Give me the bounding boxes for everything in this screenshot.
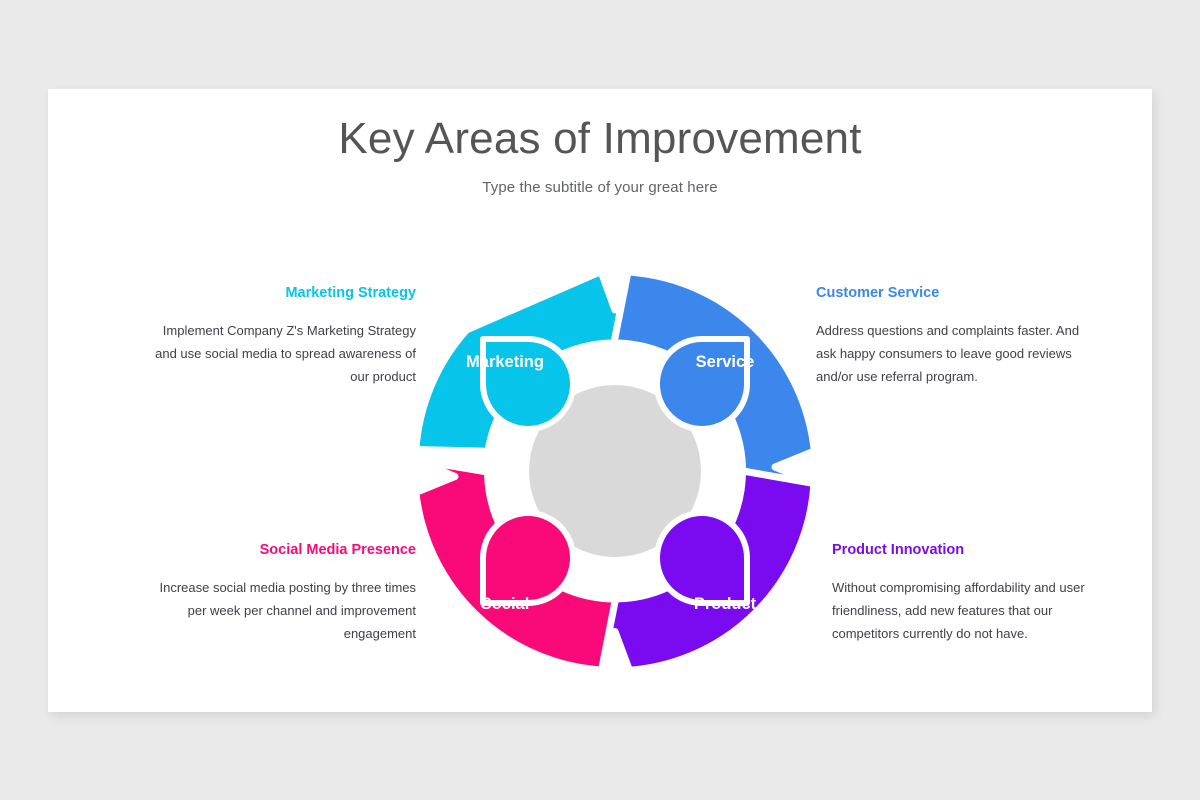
badge-product-shape — [657, 513, 747, 603]
block-heading-marketing: Marketing Strategy — [146, 285, 416, 302]
text-block-social: Social Media Presence Increase social me… — [146, 542, 416, 645]
block-body-social: Increase social media posting by three t… — [146, 576, 416, 645]
badge-label-social: Social — [481, 595, 530, 613]
block-heading-product: Product Innovation — [832, 542, 1102, 559]
block-body-product: Without compromising affordability and u… — [832, 576, 1102, 645]
badge-social-shape — [483, 513, 573, 603]
page-subtitle: Type the subtitle of your great here — [48, 179, 1152, 196]
badge-label-marketing: Marketing — [466, 353, 544, 371]
slide-card: Key Areas of Improvement Type the subtit… — [48, 89, 1152, 712]
block-heading-social: Social Media Presence — [146, 542, 416, 559]
badge-label-product: Product — [694, 595, 757, 613]
badge-label-service: Service — [696, 353, 755, 371]
cycle-diagram: Marketing Service Product Social — [405, 261, 825, 681]
slide-header: Key Areas of Improvement Type the subtit… — [48, 114, 1152, 196]
block-body-marketing: Implement Company Z's Marketing Strategy… — [146, 319, 416, 388]
block-body-service: Address questions and complaints faster.… — [816, 319, 1086, 388]
text-block-service: Customer Service Address questions and c… — [816, 285, 1086, 388]
block-heading-service: Customer Service — [816, 285, 1086, 302]
page-title: Key Areas of Improvement — [48, 114, 1152, 165]
text-block-product: Product Innovation Without compromising … — [832, 542, 1102, 645]
text-block-marketing: Marketing Strategy Implement Company Z's… — [146, 285, 416, 388]
cycle-diagram-svg: Marketing Service Product Social — [405, 261, 825, 681]
